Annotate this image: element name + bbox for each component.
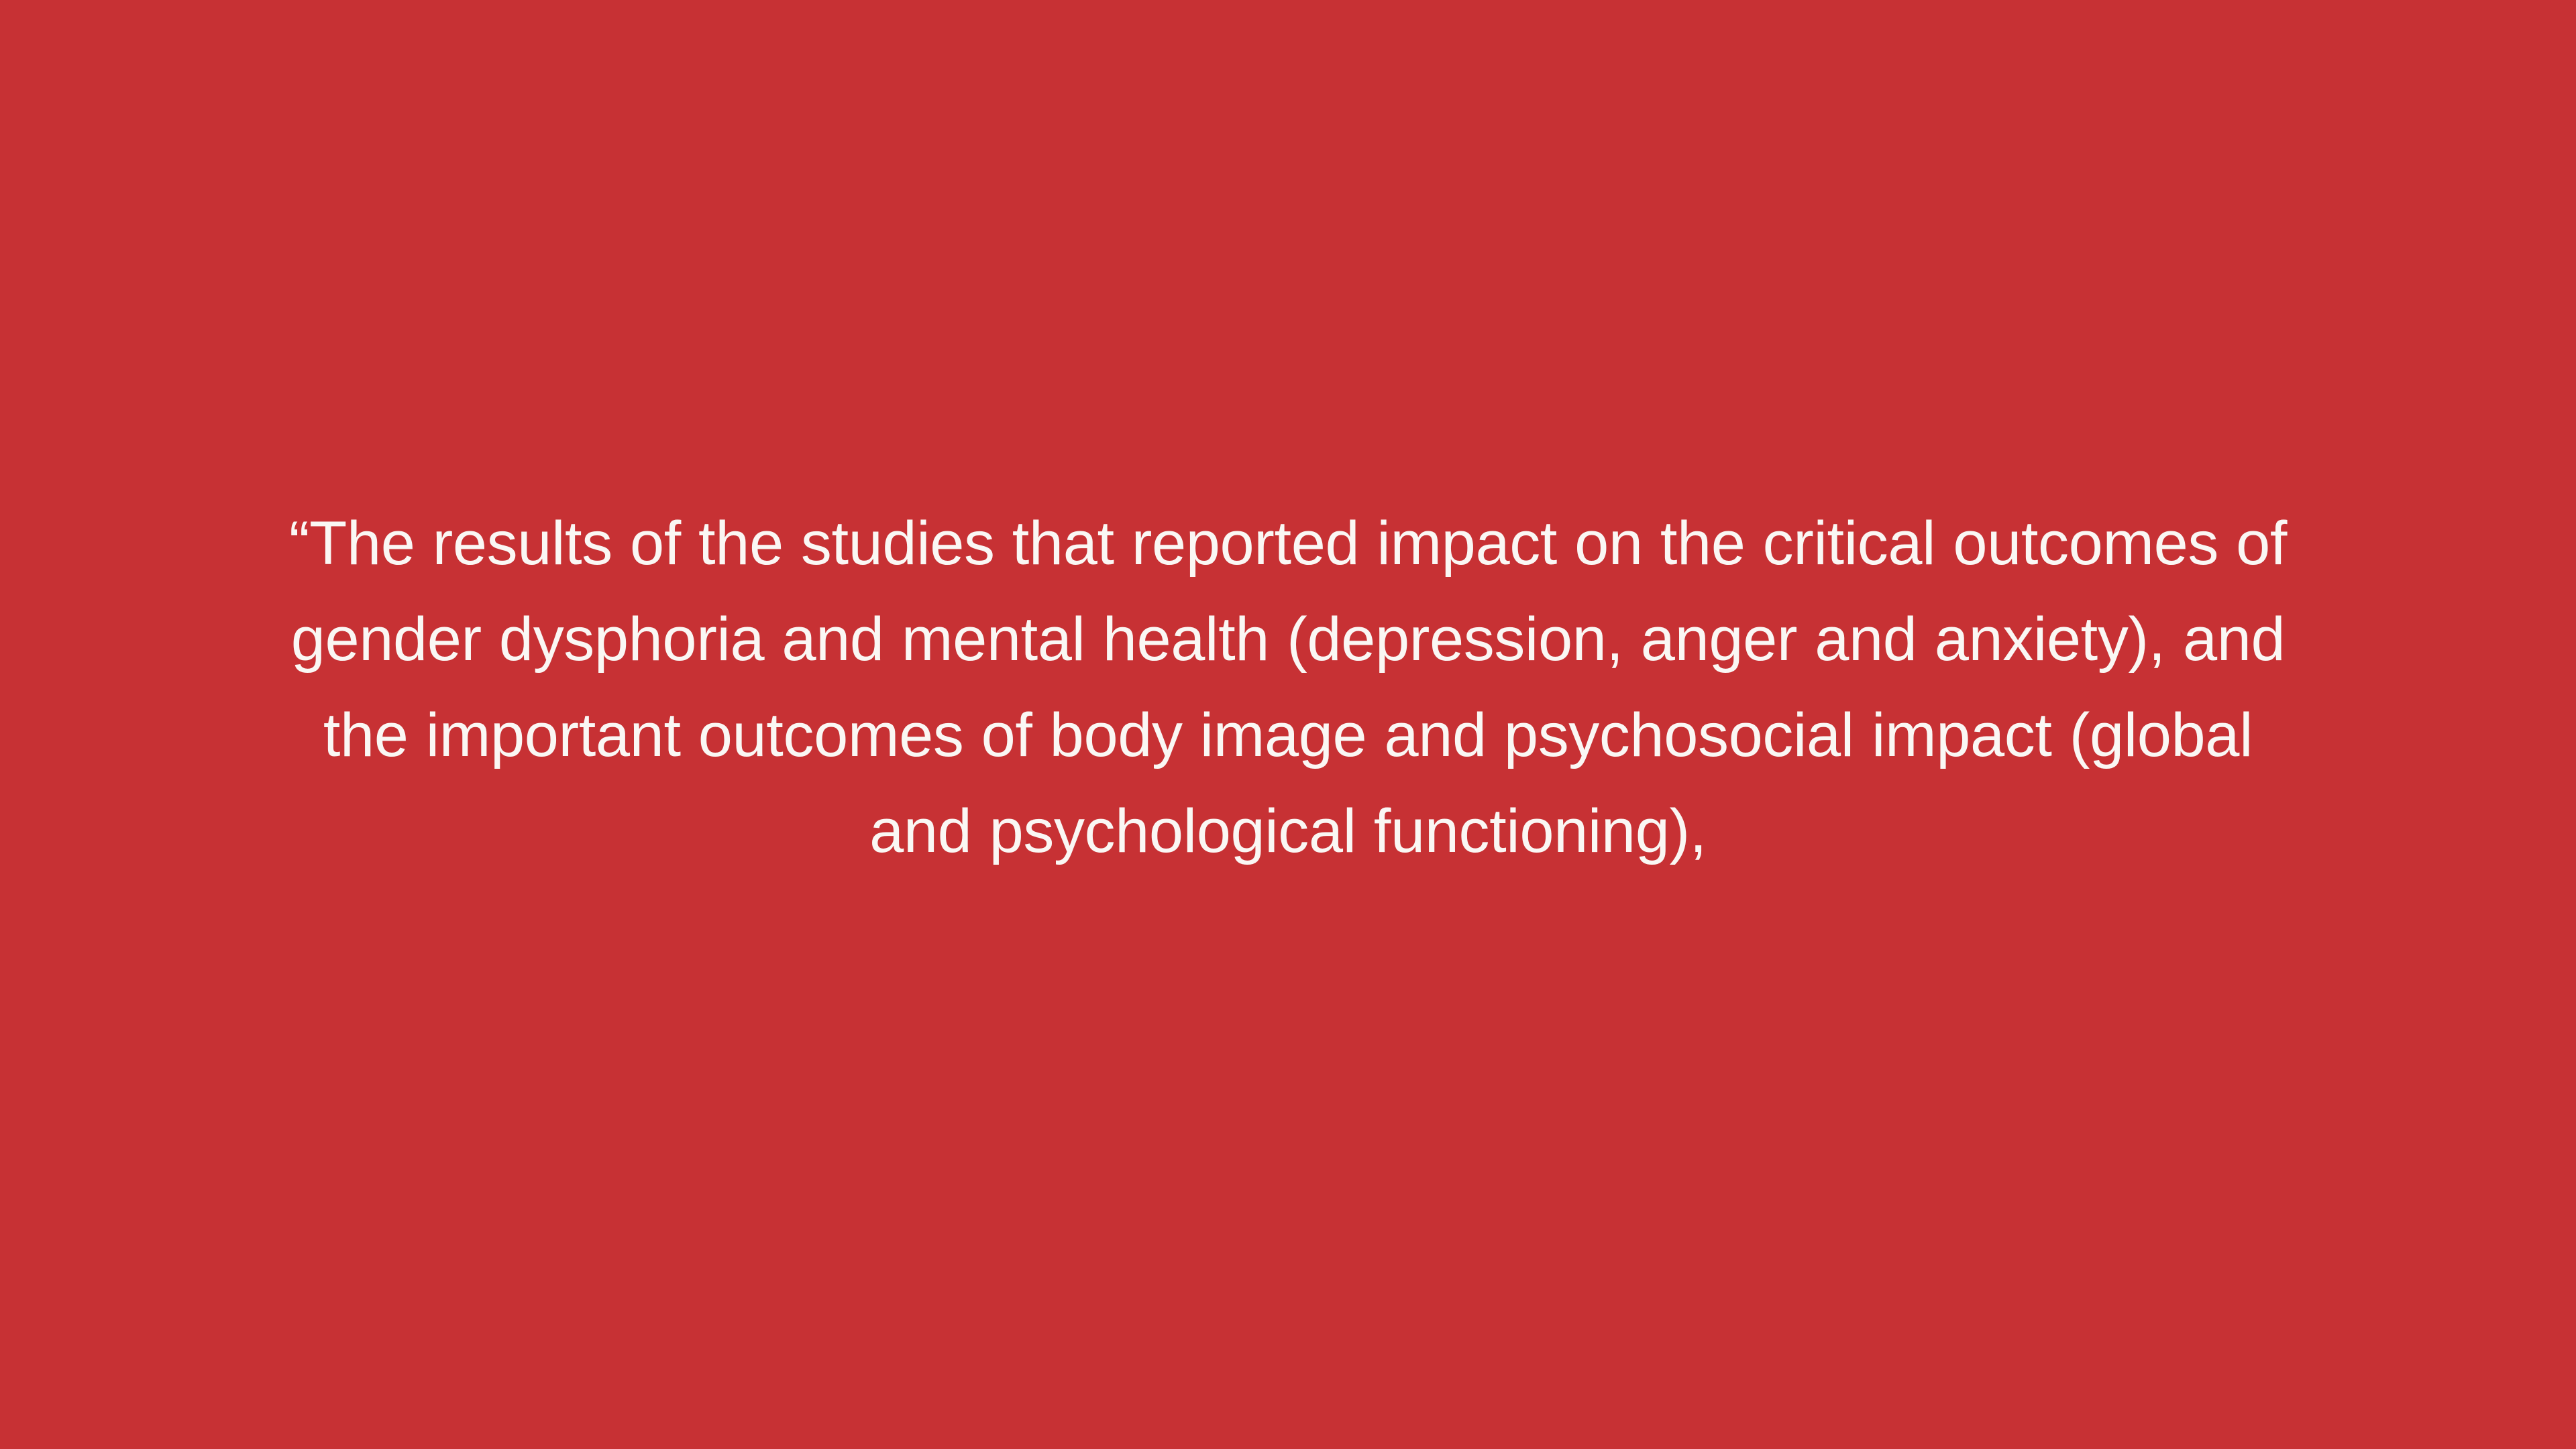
quote-slide: “The results of the studies that reporte… [0,0,2576,1449]
quote-block: “The results of the studies that reporte… [265,496,2311,879]
quote-text: “The results of the studies that reporte… [265,496,2311,879]
